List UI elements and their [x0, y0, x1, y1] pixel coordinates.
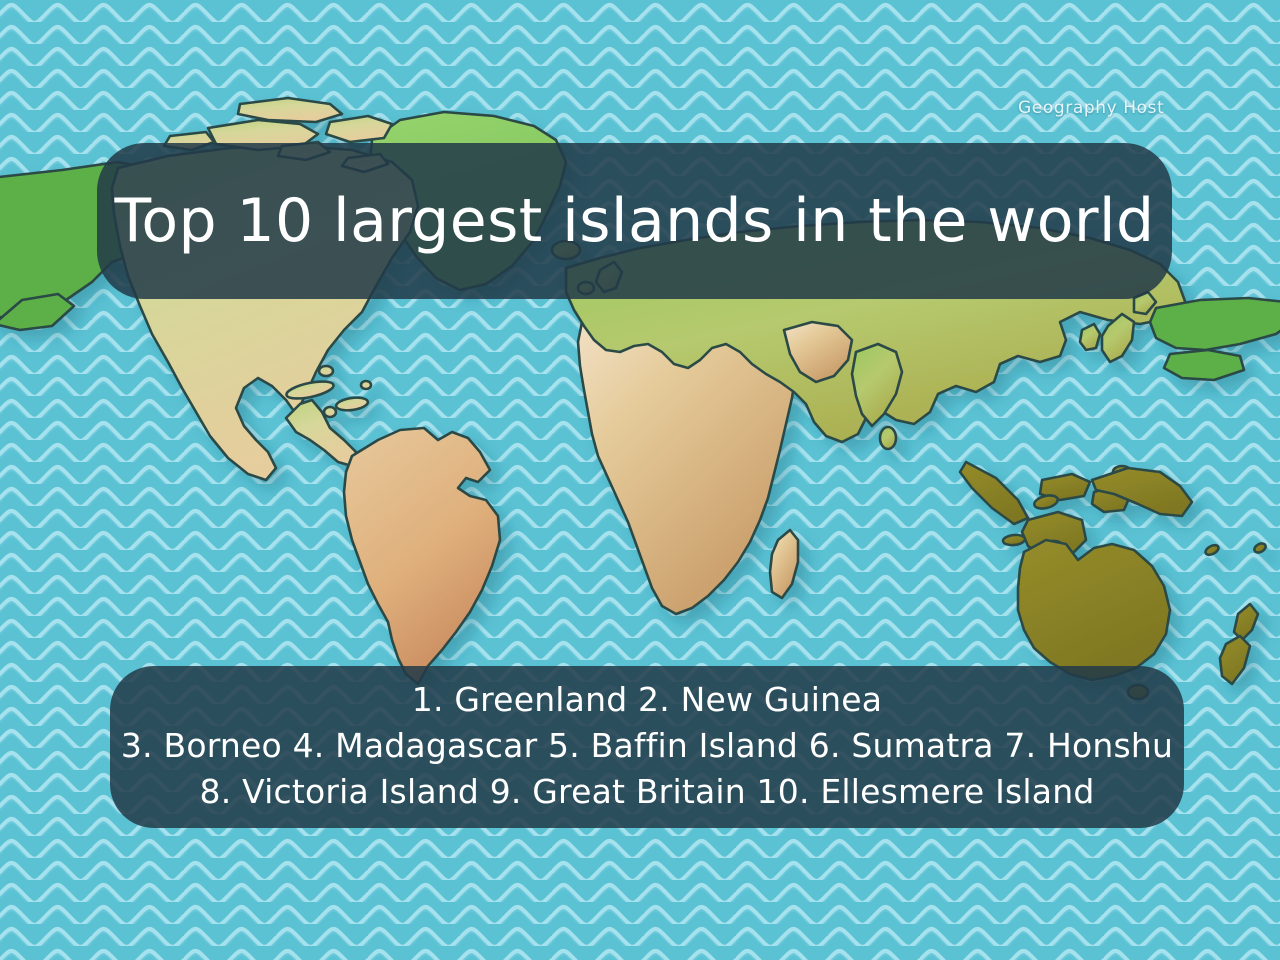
list-item: 3. Borneo 4. Madagascar 5. Baffin Island… [121, 723, 1173, 769]
island-list-panel: 1. Greenland 2. New Guinea 3. Borneo 4. … [110, 666, 1184, 828]
slide-canvas: Geography Host Top 10 largest islands in… [0, 0, 1280, 960]
watermark-label: Geography Host [1018, 98, 1164, 118]
page-title: Top 10 largest islands in the world [115, 190, 1155, 253]
list-item: 8. Victoria Island 9. Great Britain 10. … [200, 769, 1095, 815]
title-panel: Top 10 largest islands in the world [97, 143, 1172, 299]
list-item: 1. Greenland 2. New Guinea [412, 677, 882, 723]
